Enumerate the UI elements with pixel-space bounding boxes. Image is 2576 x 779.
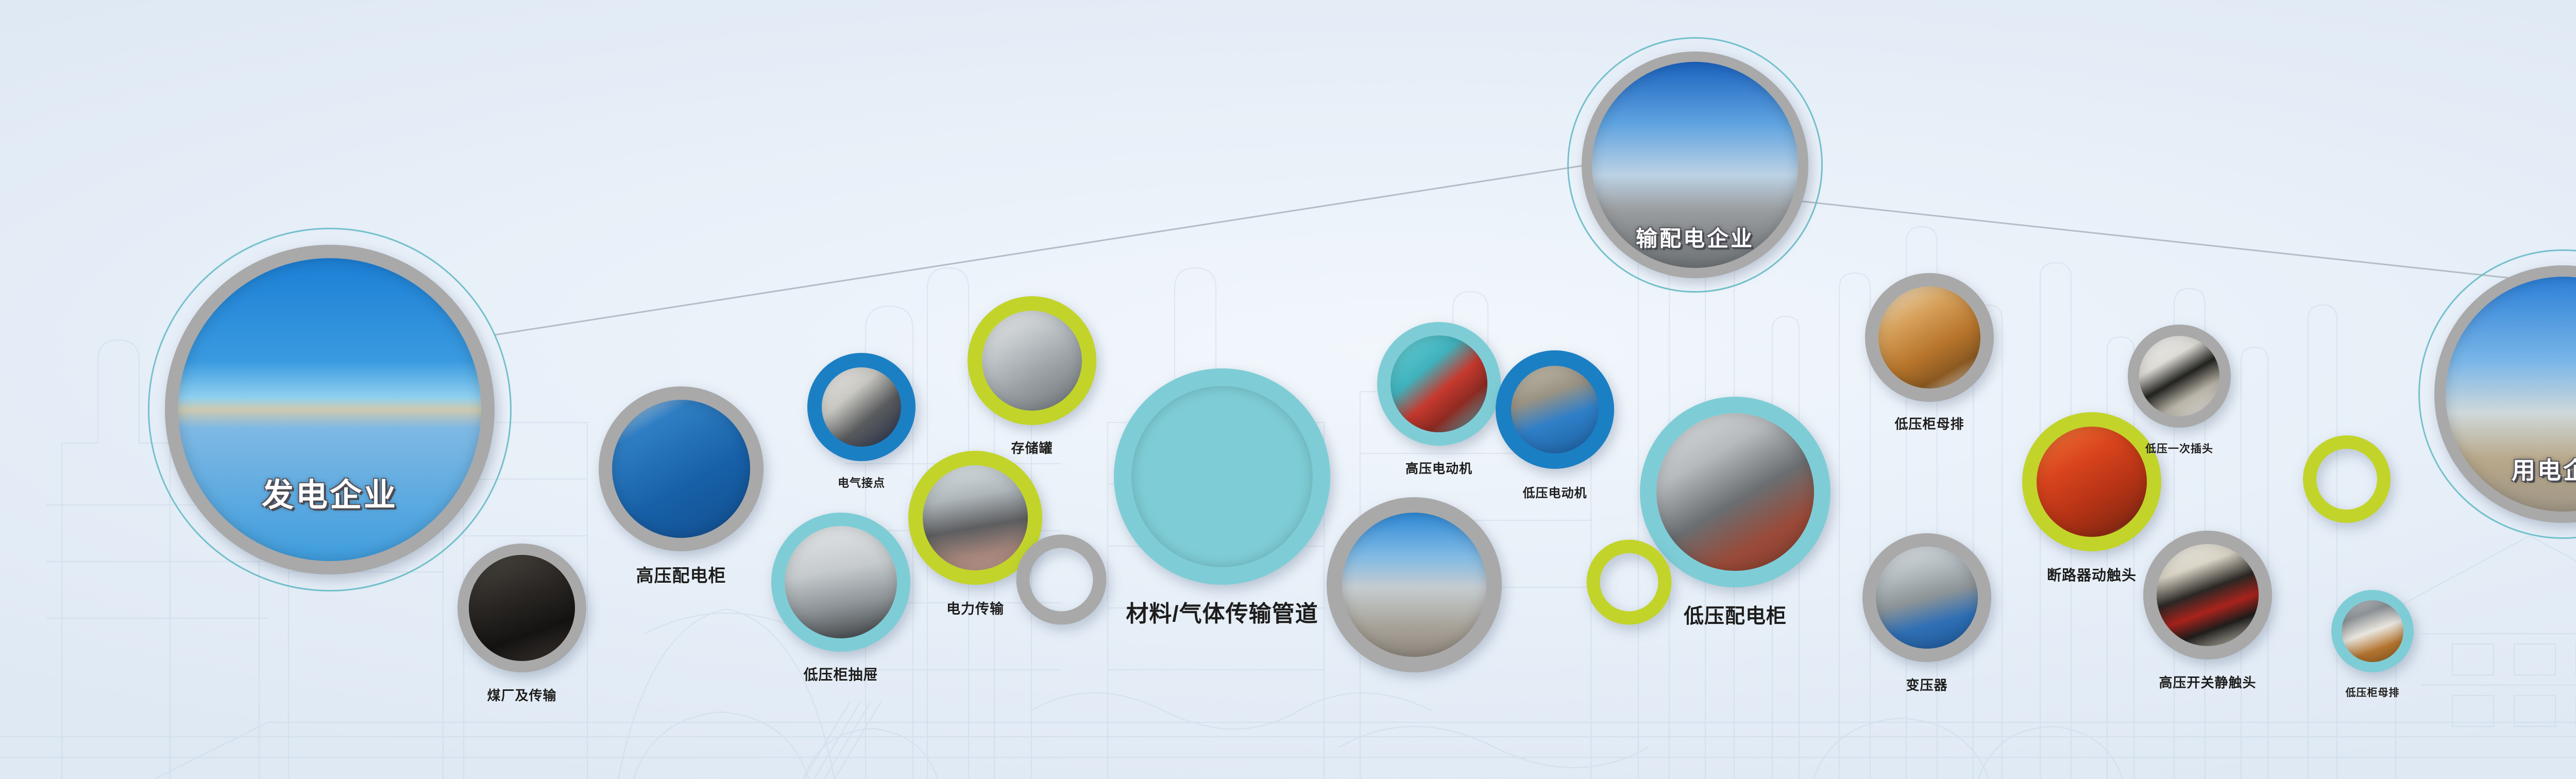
node-lv-motor[interactable] [1496,350,1614,469]
node-material-gas-pipeline[interactable] [1114,368,1330,585]
ring-lv-cabinet-drawer [771,513,910,652]
photo-cooling-towers-power-plant [178,258,481,561]
caption-lv-motor: 低压电动机 [1523,483,1587,501]
node-lv-primary-plug[interactable] [2128,325,2231,428]
decor-hollow-ring-lime-right [2303,435,2391,523]
ring-chimney-plant [1327,497,1502,672]
infographic-canvas: 发电企业输配电企业用电企业煤厂及传输高压配电柜低压柜抽屉电气接点存储罐电力传输材… [0,0,2576,779]
caption-lv-distribution-cabinet: 低压配电柜 [1684,600,1787,629]
caption-transformer: 变压器 [1906,675,1947,694]
node-lv-cabinet-busbar-right[interactable] [2331,590,2414,672]
photo-copper-busbar-stack [1878,286,1980,388]
photo-blue-induction-motor [1511,366,1599,453]
hero-title-power-consumption: 用电企业 [2512,452,2576,486]
ring-lv-cabinet-busbar-left [1865,273,1994,402]
photo-outdoor-oil-transformer [1876,547,1978,649]
caption-electrical-contacts: 电气接点 [838,474,885,490]
caption-lv-cabinet-busbar-right: 低压柜母排 [2346,684,2400,699]
ring-hv-switch-static-contact [2143,531,2272,659]
decor-hollow-ring-lime-mid [1587,540,1672,625]
photo-coal-conveyor-belt [469,555,575,661]
hero-title-power-generation: 发电企业 [262,469,398,515]
ring-hv-motor [1377,322,1501,446]
node-chimney-plant[interactable] [1327,497,1502,672]
node-lv-cabinet-drawer[interactable] [771,513,910,652]
caption-hv-switch-static-contact: 高压开关静触头 [2159,672,2256,691]
node-storage-tank[interactable] [968,296,1096,425]
ring-electrical-contacts [807,353,916,461]
node-power-generation[interactable] [165,245,495,574]
ring-hollow-ring-grey-center [1016,535,1107,625]
decor-hollow-ring-grey-center [1016,535,1107,625]
caption-lv-primary-plug: 低压一次插头 [2145,441,2213,456]
caption-lv-cabinet-busbar-left: 低压柜母排 [1894,414,1964,433]
ring-transformer [1862,533,1991,662]
photo-pipe-rack-corridor [1131,386,1313,567]
ring-lv-cabinet-busbar-right [2331,590,2414,672]
ring-breaker-moving-contact [2022,412,2161,551]
node-transformer[interactable] [1862,533,1991,662]
ring-material-gas-pipeline [1114,368,1330,585]
photo-red-blue-motor-rotor [1391,335,1487,432]
photo-busbar-terminal-strip [2342,600,2403,662]
node-lv-cabinet-busbar-left[interactable] [1865,273,1994,402]
photo-orange-breaker-poles [2037,427,2147,537]
ring-lv-motor [1496,350,1614,469]
ring-hollow-ring-lime-mid [1587,540,1672,625]
caption-coal-plant-transport: 煤厂及传输 [487,685,556,704]
node-hv-switch-static-contact[interactable] [2143,531,2272,659]
photo-red-ring-static-contacts [2157,544,2259,646]
node-hv-distribution-cabinet[interactable] [599,386,764,551]
caption-power-transmission: 电力传输 [946,598,1004,618]
node-hv-motor[interactable] [1377,322,1501,446]
photo-terminal-block-breakers [822,367,901,447]
caption-hv-motor: 高压电动机 [1405,459,1472,477]
caption-hv-distribution-cabinet: 高压配电柜 [636,562,726,587]
photo-lv-switchgear-corridor [1656,413,1814,571]
caption-material-gas-pipeline: 材料/气体传输管道 [1126,595,1318,628]
photo-blue-hv-switchgear-row [612,400,750,538]
node-electrical-contacts[interactable] [807,353,916,461]
ring-coal-plant-transport [457,544,586,672]
photo-hv-substation-insulators [923,465,1028,570]
ring-power-generation [165,245,495,574]
photo-silo-storage-tanks [982,311,1082,411]
ring-lv-primary-plug [2128,325,2231,428]
photo-cable-lugs-connectors [2139,336,2219,416]
hero-title-transmission-distribution: 输配电企业 [1636,222,1754,253]
ring-hv-distribution-cabinet [599,386,764,551]
caption-lv-cabinet-drawer: 低压柜抽屉 [803,664,878,684]
ring-hollow-ring-lime-right [2303,435,2391,523]
photo-chemical-plant-chimney [1342,513,1486,657]
ring-storage-tank [968,296,1096,425]
photo-lv-cabinet-drawer-unit [785,526,897,638]
node-coal-plant-transport[interactable] [457,544,586,672]
node-breaker-moving-contact[interactable] [2022,412,2161,551]
caption-breaker-moving-contact: 断路器动触头 [2047,564,2137,585]
